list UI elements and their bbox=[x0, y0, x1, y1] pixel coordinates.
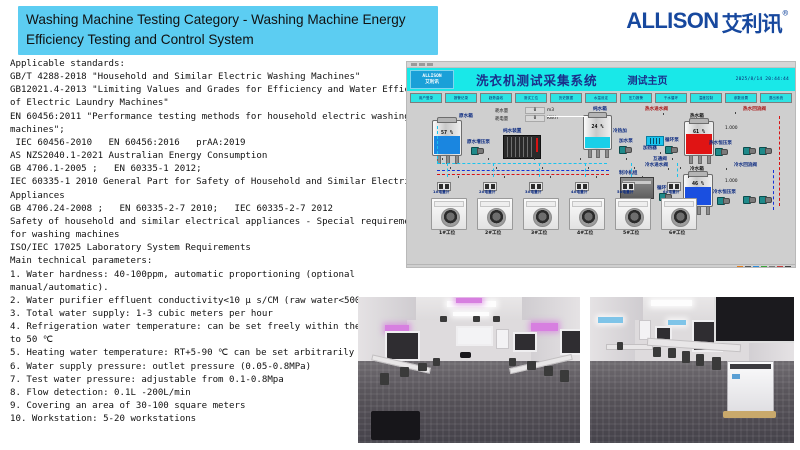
spec-line: to 50 ℃ bbox=[10, 334, 410, 347]
valve-station-3[interactable] bbox=[539, 167, 546, 173]
readout-label-power: 耗电量 bbox=[495, 116, 508, 122]
valve-station-5[interactable] bbox=[639, 176, 646, 182]
scada-toolbar-button[interactable]: 历史数据 bbox=[550, 93, 582, 103]
tank-hot-water: 61 % bbox=[684, 121, 714, 156]
meter-label-station-5: 5#电量计 bbox=[617, 190, 633, 195]
spec-line: 1. Water hardness: 40-100ppm, automatic … bbox=[10, 269, 410, 282]
valve-station-3[interactable] bbox=[547, 176, 554, 182]
spec-line: IEC 60456-2010 EN 60456:2016 prAA:2019 bbox=[10, 137, 410, 150]
spec-line: Safety of household and similar electric… bbox=[10, 216, 410, 229]
scada-titlebar: ALLISON 艾利讯 洗衣机测试采集系统 测试主页 2025/8/14 20:… bbox=[407, 68, 795, 91]
scada-logo-line2: 艾利讯 bbox=[425, 80, 439, 85]
meter-label-station-2: 2#电量计 bbox=[479, 190, 495, 195]
washing-machine-station-1[interactable] bbox=[431, 198, 467, 230]
spec-line: machines"; bbox=[10, 124, 410, 137]
slide-root: Washing Machine Testing Category - Washi… bbox=[0, 0, 800, 450]
scada-toolbar-button[interactable]: 趋势曲线 bbox=[480, 93, 512, 103]
readout-value-power: 0 bbox=[525, 115, 545, 122]
tray-icon-2[interactable] bbox=[745, 266, 751, 268]
label-hot-constant-pressure-pump: 热水恒压泵 bbox=[709, 140, 732, 146]
scada-toolbar-button[interactable]: 测试工位 bbox=[515, 93, 547, 103]
valve-station-3[interactable] bbox=[531, 158, 538, 164]
readout-unit-water: m3 bbox=[547, 108, 554, 113]
valve-station-4[interactable] bbox=[585, 167, 592, 173]
pump-cold-standby-b bbox=[759, 195, 770, 203]
label-cold-hot-add: 冷热加 bbox=[613, 128, 627, 134]
tray-icon-7[interactable] bbox=[785, 266, 791, 268]
registered-mark-icon: ® bbox=[783, 9, 788, 19]
scada-toolbar-button[interactable]: 压力报警 bbox=[620, 93, 652, 103]
washing-machine-station-2[interactable] bbox=[477, 198, 513, 230]
spec-line: 4. Refrigeration water temperature: can … bbox=[10, 321, 410, 334]
pump-hot-standby-a bbox=[743, 146, 754, 154]
photo-lab-room-empty bbox=[358, 297, 580, 443]
pipe-cyan-riser bbox=[437, 126, 438, 164]
pipe-blue-loop bbox=[773, 170, 774, 210]
scada-toolbar[interactable]: 用户登录报警记录趋势曲线测试工位历史数据水温设定压力报警干水循环温度控制参数设置… bbox=[407, 91, 795, 104]
scada-toolbar-button[interactable]: 退出系统 bbox=[760, 93, 792, 103]
spec-line: GB 4706.24-2008 ; EN 60335-2-7 2010; IEC… bbox=[10, 203, 410, 216]
label-hot-water-inlet-valve: 热水进水阀 bbox=[645, 106, 668, 112]
label-raw-water-tank: 原水箱 bbox=[459, 113, 473, 119]
spec-line: of Electric Laundry Machines" bbox=[10, 97, 410, 110]
scada-toolbar-button[interactable]: 报警记录 bbox=[445, 93, 477, 103]
specifications-text: Applicable standards:GB/T 4288-2018 "Hou… bbox=[10, 58, 410, 426]
scada-datetime: 2025/8/14 20:44:44 bbox=[736, 77, 789, 82]
page-title: Washing Machine Testing Category - Washi… bbox=[18, 6, 438, 55]
valve-station-5[interactable] bbox=[623, 158, 630, 164]
pump-circulation-hot bbox=[665, 145, 676, 153]
label-cold-water-return-valve: 冷水回流阀 bbox=[734, 162, 757, 168]
flow-value-cold: 1.000 bbox=[725, 179, 738, 184]
valve-cold-water-return[interactable] bbox=[723, 168, 730, 174]
photo-lab-room-washer bbox=[590, 297, 794, 443]
valve-station-6[interactable] bbox=[685, 176, 692, 182]
cabinet-water-purifier bbox=[503, 135, 541, 159]
spec-line: 10. Workstation: 5-20 workstations bbox=[10, 413, 410, 426]
scada-toolbar-button[interactable]: 用户登录 bbox=[410, 93, 442, 103]
pipe-purifier-out bbox=[547, 116, 587, 117]
scada-toolbar-button[interactable]: 参数设置 bbox=[725, 93, 757, 103]
readout-value-water: 0 bbox=[525, 107, 545, 114]
scada-subtitle: 测试主页 bbox=[628, 72, 668, 87]
label-cold-constant-pressure-pump: 冷水恒压泵 bbox=[713, 189, 736, 195]
spec-line: AS NZS2040.1-2021 Australian Energy Cons… bbox=[10, 150, 410, 163]
scada-toolbar-button[interactable]: 温度控制 bbox=[690, 93, 722, 103]
label-feed-pump: 加水泵 bbox=[619, 138, 633, 144]
station-label-5: 5#工位 bbox=[623, 230, 639, 236]
tank-pure-water-pct: 24 % bbox=[584, 124, 611, 130]
label-circulation-pump-hot: 循环泵 bbox=[665, 137, 679, 143]
valve-station-2[interactable] bbox=[493, 167, 500, 173]
meter-label-station-6: 6#电量计 bbox=[663, 190, 679, 195]
valve-cold-water-inlet[interactable] bbox=[665, 168, 672, 174]
pump-cold-constant-pressure bbox=[717, 196, 728, 204]
pipe-red-loop bbox=[779, 116, 780, 206]
valve-station-4[interactable] bbox=[577, 158, 584, 164]
scada-mimic-diagram: 耗水量 0 m3 耗电量 0 KW.h 原水箱 57 % 纯水箱 24 % bbox=[407, 104, 795, 264]
spec-line: EN 60456:2011 "Performance testing metho… bbox=[10, 111, 410, 124]
valve-station-2[interactable] bbox=[485, 158, 492, 164]
spec-line: 2. Water purifier effluent conductivity<… bbox=[10, 295, 410, 308]
brand-logo-cn: 艾利讯 bbox=[722, 8, 782, 38]
scada-statusbar bbox=[407, 264, 795, 268]
spec-line: ISO/IEC 17025 Laboratory System Requirem… bbox=[10, 242, 410, 255]
spec-line: GB 4706.1-2005 ; EN 60335-1 2012; bbox=[10, 163, 410, 176]
valve-station-4[interactable] bbox=[593, 176, 600, 182]
flow-value-hot: 1.000 bbox=[725, 126, 738, 131]
tray-icon-4[interactable] bbox=[761, 266, 767, 268]
spec-line: 7. Test water pressure: adjustable from … bbox=[10, 374, 410, 387]
valve-station-5[interactable] bbox=[631, 167, 638, 173]
brand-logo: ALLISON 艾利讯 ® bbox=[626, 8, 788, 38]
system-tray[interactable] bbox=[737, 266, 791, 268]
station-label-2: 2#工位 bbox=[485, 230, 501, 236]
valve-station-6[interactable] bbox=[677, 167, 684, 173]
pump-raw-booster bbox=[471, 146, 482, 154]
pump-hot-constant-pressure bbox=[715, 147, 726, 155]
label-water-purifier: 纯水装置 bbox=[503, 128, 521, 134]
washing-machine-station-5[interactable] bbox=[615, 198, 651, 230]
pump-feed bbox=[619, 145, 630, 153]
tray-icon-6[interactable] bbox=[777, 266, 783, 268]
scada-toolbar-button[interactable]: 干水循环 bbox=[655, 93, 687, 103]
spec-line: 6. Water supply pressure: outlet pressur… bbox=[10, 361, 410, 374]
washing-machine-station-4[interactable] bbox=[569, 198, 605, 230]
valve-station-2[interactable] bbox=[501, 176, 508, 182]
pipe-blue-header bbox=[437, 170, 609, 171]
tray-icon-1[interactable] bbox=[737, 266, 743, 268]
label-raw-booster-pump: 原水增压泵 bbox=[467, 139, 490, 145]
washing-machine-station-3[interactable] bbox=[523, 198, 559, 230]
scada-toolbar-button[interactable]: 水温设定 bbox=[585, 93, 617, 103]
scada-title: 洗衣机测试采集系统 bbox=[476, 70, 598, 89]
scada-logo: ALLISON 艾利讯 bbox=[410, 70, 454, 89]
spec-line: 5. Heating water temperature: RT+5-90 ℃ … bbox=[10, 347, 410, 360]
spec-line: GB/T 4288-2018 "Household and Similar El… bbox=[10, 71, 410, 84]
station-label-6: 6#工位 bbox=[669, 230, 685, 236]
valve-station-1[interactable] bbox=[439, 158, 446, 164]
valve-hot-water-return[interactable] bbox=[732, 112, 739, 118]
valve-hot-water-inlet[interactable] bbox=[660, 113, 667, 119]
meter-label-station-3: 3#电量计 bbox=[525, 190, 541, 195]
tank-pure-water-fill bbox=[585, 137, 610, 148]
station-label-1: 1#工位 bbox=[439, 230, 455, 236]
meter-label-station-1: 1#电量计 bbox=[433, 190, 449, 195]
tank-hot-water-pct: 61 % bbox=[685, 129, 713, 135]
spec-line: Main technical parameters: bbox=[10, 255, 410, 268]
spec-line: Applicable standards: bbox=[10, 58, 410, 71]
tray-icon-5[interactable] bbox=[769, 266, 775, 268]
pump-hot-standby-b bbox=[759, 146, 770, 154]
spec-line: for washing machines bbox=[10, 229, 410, 242]
label-heater: 加热器 bbox=[643, 145, 657, 151]
spec-line: Appliances bbox=[10, 190, 410, 203]
valve-station-6[interactable] bbox=[669, 158, 676, 164]
station-label-3: 3#工位 bbox=[531, 230, 547, 236]
valve-station-1[interactable] bbox=[455, 176, 462, 182]
washing-machine-station-6[interactable] bbox=[661, 198, 697, 230]
spec-line: 3. Total water supply: 1-3 cubic meters … bbox=[10, 308, 410, 321]
tray-icon-3[interactable] bbox=[753, 266, 759, 268]
station-label-4: 4#工位 bbox=[577, 230, 593, 236]
spec-line: manual/automatic). bbox=[10, 282, 410, 295]
valve-station-1[interactable] bbox=[447, 167, 454, 173]
spec-line: 9. Covering an area of 30-100 square met… bbox=[10, 400, 410, 413]
pipe-red-header bbox=[437, 174, 609, 175]
label-hot-water-return-valve: 热水回流阀 bbox=[743, 106, 766, 112]
meter-label-station-4: 4#电量计 bbox=[571, 190, 587, 195]
spec-line: 8. Flow detection: 0.1L -200L/min bbox=[10, 387, 410, 400]
spec-line: GB12021.4-2013 "Limiting Values and Grad… bbox=[10, 84, 410, 97]
valve-interconnect[interactable] bbox=[657, 152, 664, 158]
tank-pure-water: 24 % bbox=[583, 115, 612, 150]
scada-screenshot: ALLISON 艾利讯 洗衣机测试采集系统 测试主页 2025/8/14 20:… bbox=[406, 61, 796, 268]
pump-cold-standby-a bbox=[743, 195, 754, 203]
spec-line: IEC 60335-1 2010 General Part for Safety… bbox=[10, 176, 410, 189]
brand-logo-en: ALLISON bbox=[626, 8, 718, 34]
readout-label-water: 耗水量 bbox=[495, 108, 508, 114]
